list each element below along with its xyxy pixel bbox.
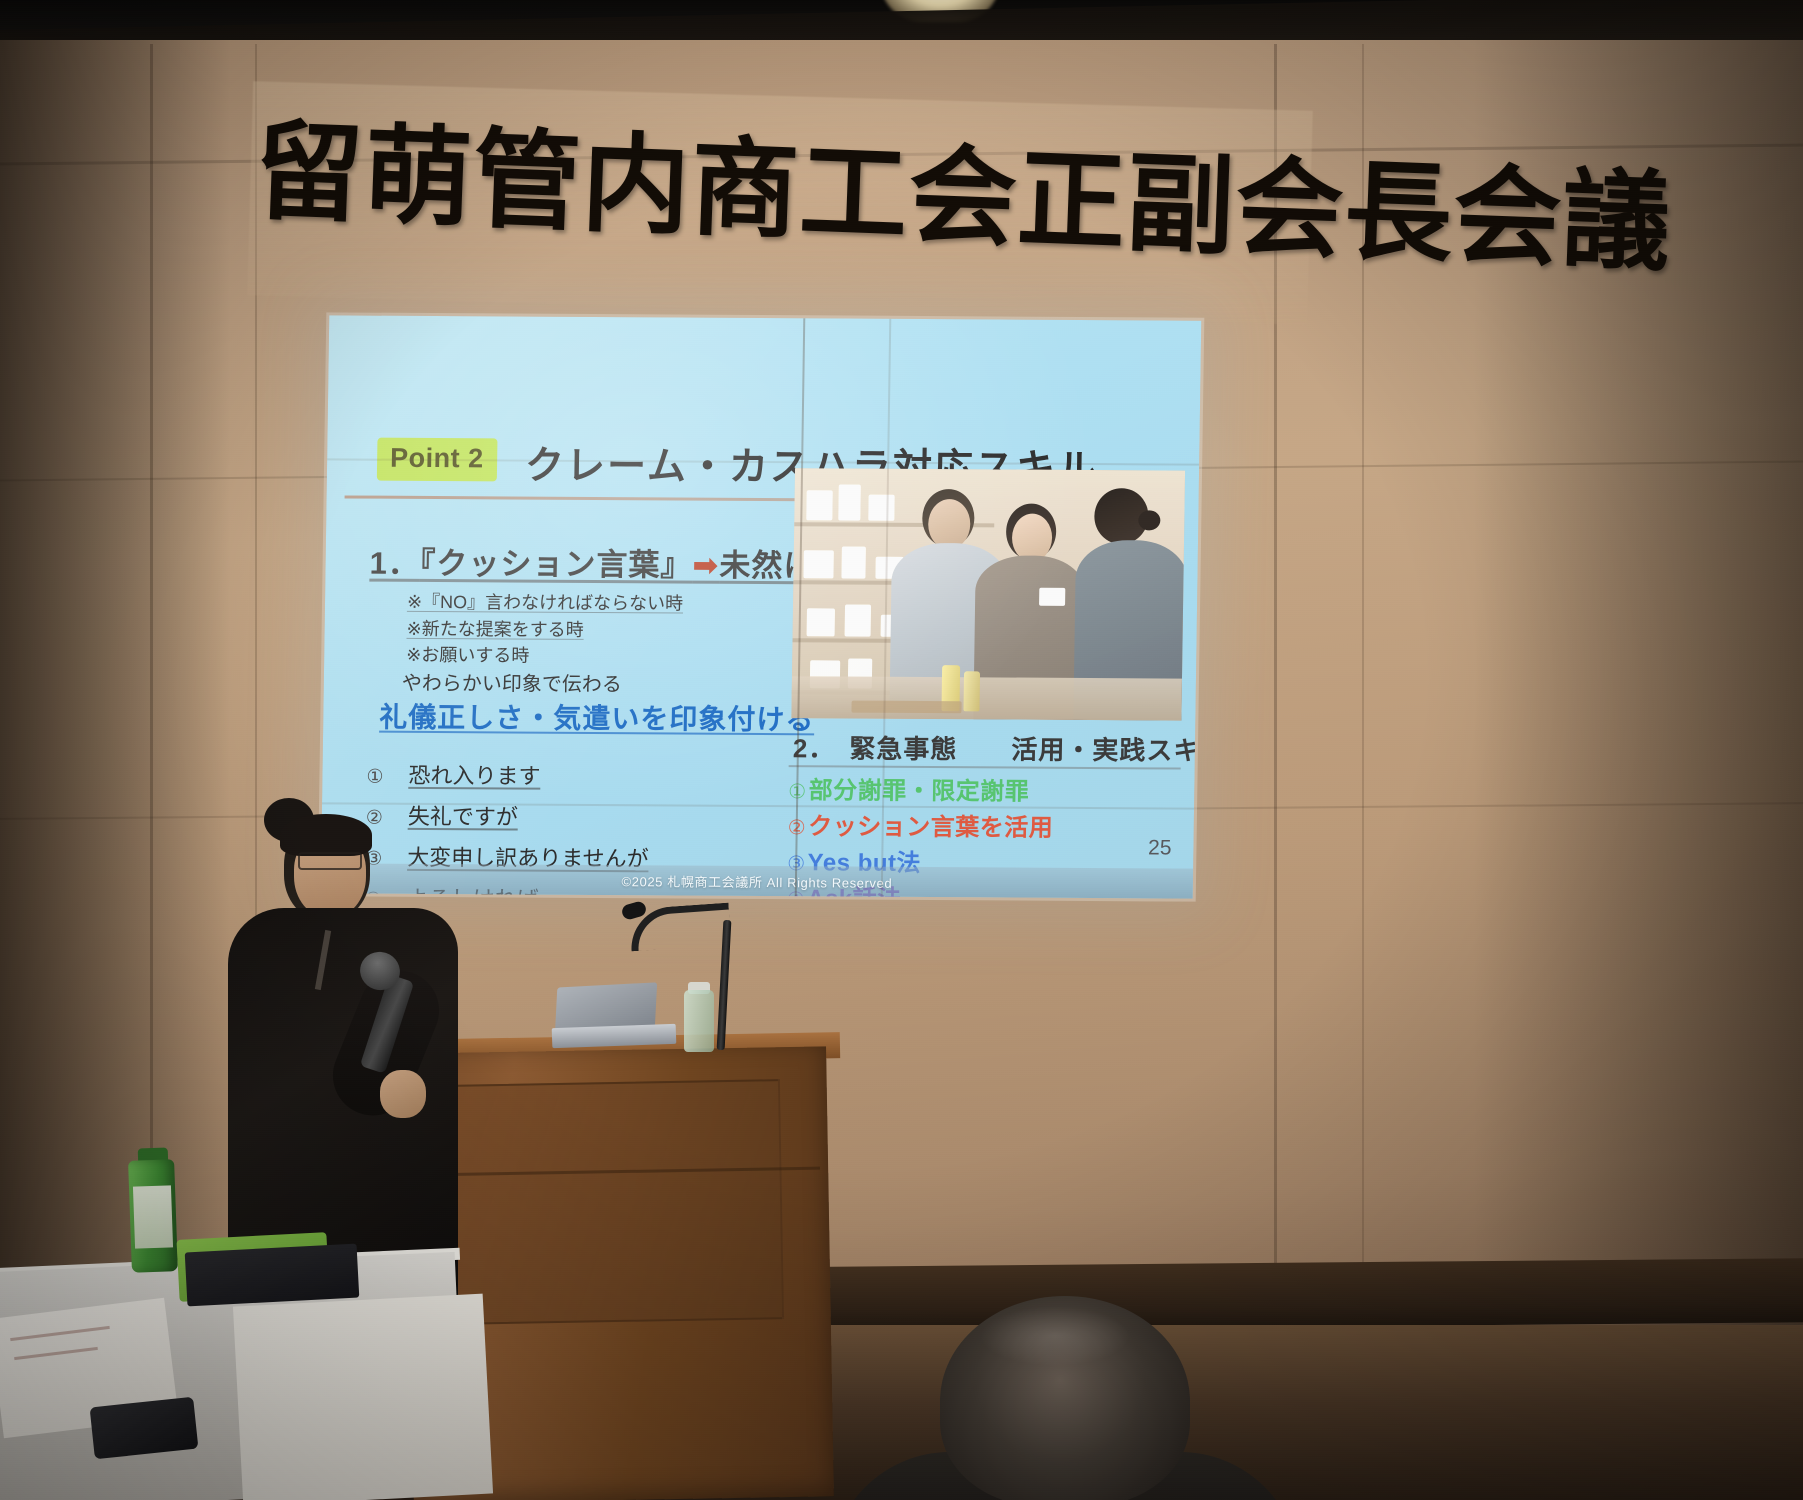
- section1-heading-text: 『クッション言葉』: [420, 546, 693, 583]
- audience-hair-highlight: [980, 1306, 1130, 1366]
- speaker-hand: [380, 1070, 426, 1118]
- list-item-label: 部分謝罪・限定謝罪: [809, 770, 1030, 806]
- slide-photo: [791, 468, 1185, 720]
- photo-product: [841, 546, 865, 578]
- list-item-label: クッション言葉を活用: [808, 806, 1054, 842]
- glasses-icon: [298, 852, 362, 870]
- photo-product: [803, 550, 833, 578]
- photo-bottle: [963, 671, 980, 711]
- smartphone: [90, 1397, 199, 1460]
- section2-heading: 2． 緊急事態 活用・実践スキル: [793, 728, 1202, 768]
- photo-counter: [791, 676, 1182, 720]
- water-bottle: [684, 990, 714, 1052]
- list-item-number: ①: [366, 766, 392, 789]
- list-item: ② クッション言葉を活用: [788, 806, 1202, 844]
- section1-note: ※『NO』言わなければならない時: [407, 588, 683, 616]
- podium-front-panel: [450, 1079, 784, 1325]
- speaker-person: [228, 790, 478, 1310]
- photo-product: [868, 495, 894, 521]
- speaker-hair: [280, 814, 372, 856]
- tea-bottle-label: [133, 1185, 173, 1248]
- wall-shadow-left: [0, 40, 230, 1350]
- photo-counter-edge: [851, 701, 961, 714]
- list-item: ① 部分謝罪・限定謝罪: [788, 770, 1201, 808]
- section1-note: ※新たな提案をする時: [406, 615, 583, 642]
- section1-emphasis-line: 礼儀正しさ・気遣いを印象付ける: [379, 696, 815, 739]
- photo-product: [806, 490, 832, 520]
- section1-heading-number: 1．: [369, 546, 420, 581]
- table-cloth: [233, 1294, 493, 1500]
- section1-note: ※お願いする時: [406, 641, 529, 668]
- list-item-label: 恐れ入ります: [408, 758, 540, 791]
- photo-name-badge: [1039, 588, 1065, 606]
- list-item: ① 恐れ入ります: [366, 758, 786, 793]
- document-folder: [185, 1244, 360, 1307]
- conference-room-photo: 留萌管内商工会正副会長会議 Point 2 クレーム・カスハラ対応スキル 1．『…: [0, 0, 1803, 1500]
- photo-product: [845, 605, 871, 637]
- arrow-right-icon: ➡: [692, 548, 720, 583]
- photo-product: [807, 608, 835, 636]
- slide-page-number: 25: [1148, 836, 1172, 860]
- section1-soft-line: やわらかい印象で伝わる: [402, 667, 622, 697]
- photo-product: [838, 484, 861, 520]
